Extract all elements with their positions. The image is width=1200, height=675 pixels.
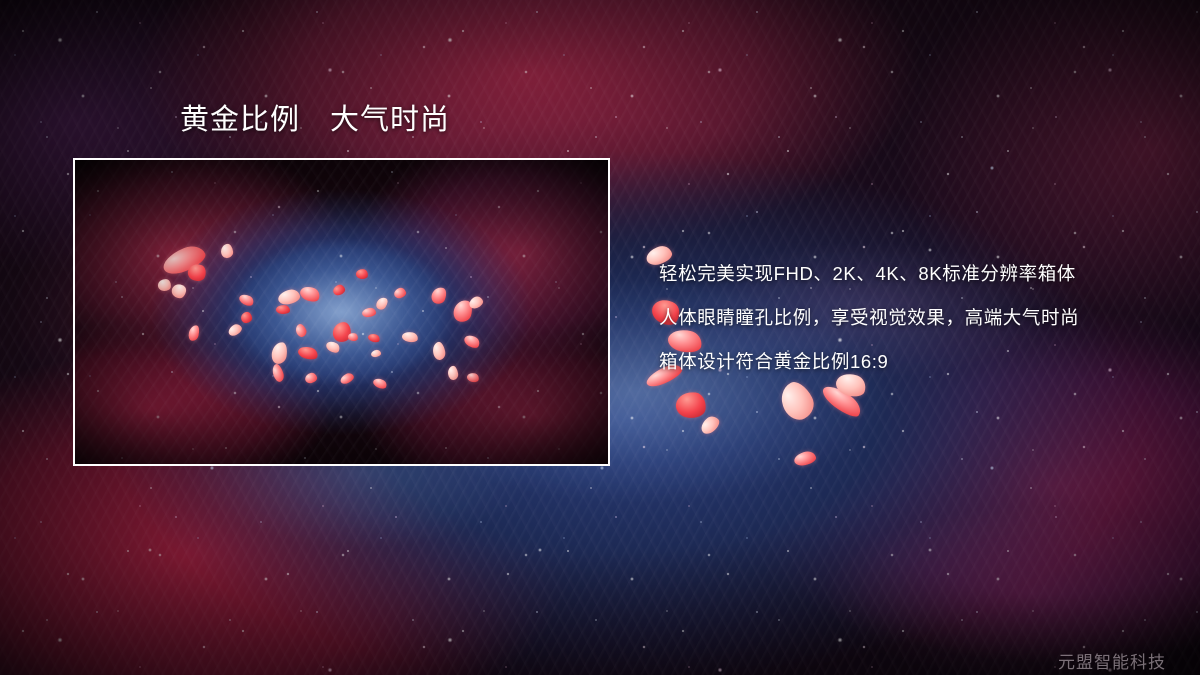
watermark-label: 元盟智能科技 [1058, 648, 1166, 673]
framed-image [73, 158, 610, 466]
body-line-3: 箱体设计符合黄金比例16:9 [659, 340, 1179, 384]
petal-shape [793, 450, 817, 467]
page-title: 黄金比例 大气时尚 [180, 102, 450, 138]
presentation-slide: 黄金比例 大气时尚 轻松完美实现FHD、2K、4K、8K标准分辨率箱体 人体眼睛… [0, 0, 1200, 675]
framed-image-vignette [75, 160, 608, 464]
body-line-2: 人体眼睛瞳孔比例，享受视觉效果，高端大气时尚 [659, 296, 1179, 340]
petal-shape [698, 413, 722, 437]
body-copy-block: 轻松完美实现FHD、2K、4K、8K标准分辨率箱体 人体眼睛瞳孔比例，享受视觉效… [659, 252, 1179, 384]
body-line-1: 轻松完美实现FHD、2K、4K、8K标准分辨率箱体 [659, 252, 1179, 296]
petal-shape [674, 390, 707, 420]
petal-shape [775, 377, 819, 425]
